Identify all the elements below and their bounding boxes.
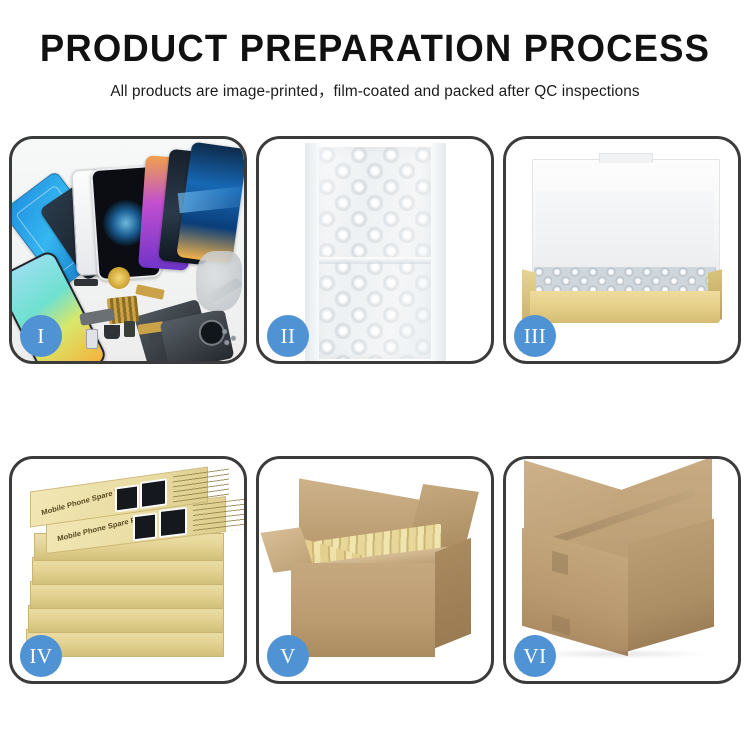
process-step-card-4[interactable]: Mobile Phone Spare Parts Mobile Phone Sp… (9, 456, 247, 684)
small-part-graphic (86, 329, 98, 349)
process-step-card-1[interactable]: I (9, 136, 247, 364)
process-step-card-5[interactable]: V (256, 456, 494, 684)
step-badge-3: III (514, 315, 556, 357)
page-title: PRODUCT PREPARATION PROCESS (15, 30, 735, 70)
page-header: PRODUCT PREPARATION PROCESS All products… (0, 0, 750, 101)
carton-tape-graphic (552, 551, 568, 576)
strip-part-graphic (74, 279, 98, 286)
small-part-graphic (124, 321, 135, 337)
bubble-wrap-graphic (319, 147, 431, 359)
step-badge-1: I (20, 315, 62, 357)
small-part-graphic (104, 325, 120, 339)
hand-graphic (196, 251, 242, 311)
coil-part-graphic (108, 267, 130, 289)
screws-graphic (218, 325, 240, 347)
wrap-edge-graphic (430, 143, 446, 361)
carton-front-graphic (291, 563, 435, 657)
process-step-card-2[interactable]: II (256, 136, 494, 364)
step-badge-4: IV (20, 635, 62, 677)
process-step-card-3[interactable]: III (503, 136, 741, 364)
box-inner-wall-graphic (536, 191, 714, 269)
wrap-seam-graphic (319, 257, 431, 264)
process-step-card-6[interactable]: VI (503, 456, 741, 684)
process-step-grid: I II III (9, 136, 741, 684)
carton-side-graphic (435, 538, 471, 649)
box-front-panel-graphic (530, 291, 720, 323)
step-badge-6: VI (514, 635, 556, 677)
page-subtitle: All products are image-printed，film-coat… (4, 79, 747, 101)
bubble-wrap-fill-graphic (534, 267, 716, 293)
step-badge-2: II (267, 315, 309, 357)
step-badge-5: V (267, 635, 309, 677)
